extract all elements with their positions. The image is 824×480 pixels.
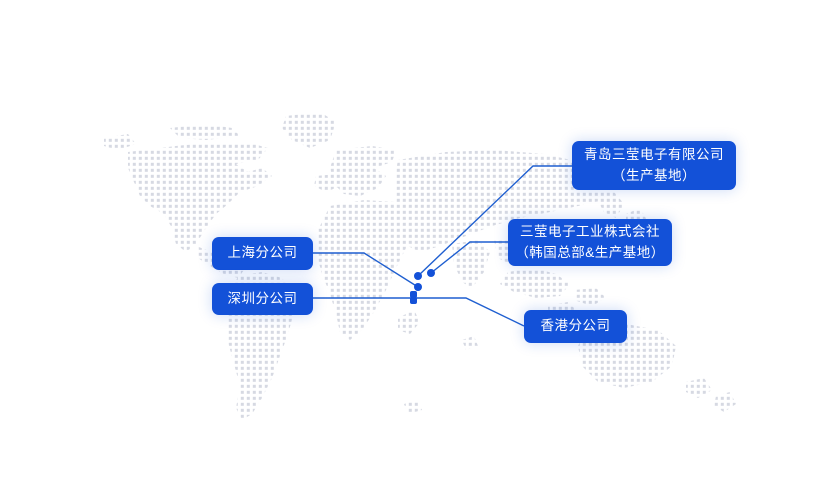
marker-korea-icon — [427, 269, 435, 277]
marker-qingdao-icon — [414, 272, 422, 280]
location-map-diagram: 青岛三莹电子有限公司 （生产基地） 三莹电子工业株式会社 （韩国总部&生产基地）… — [0, 0, 824, 480]
korea-hq-callout[interactable]: 三莹电子工业株式会社 （韩国总部&生产基地） — [508, 219, 672, 266]
connector-shanghai — [311, 253, 418, 287]
shenzhen-callout-label: 深圳分公司 — [228, 289, 298, 309]
connector-korea — [431, 242, 510, 273]
shenzhen-callout[interactable]: 深圳分公司 — [212, 283, 313, 315]
korea-hq-callout-line-1: 三莹电子工业株式会社 — [520, 222, 660, 242]
korea-hq-callout-line-2: （韩国总部&生产基地） — [515, 243, 665, 263]
connector-lines — [0, 0, 824, 480]
marker-shanghai-icon — [414, 283, 422, 291]
qingdao-callout-line-2: （生产基地） — [612, 166, 696, 186]
hongkong-callout-label: 香港分公司 — [541, 316, 611, 336]
shanghai-callout[interactable]: 上海分公司 — [212, 237, 313, 270]
qingdao-callout[interactable]: 青岛三莹电子有限公司 （生产基地） — [572, 141, 736, 190]
connector-hongkong — [414, 298, 524, 326]
marker-hongkong-icon — [410, 297, 417, 304]
shanghai-callout-label: 上海分公司 — [228, 243, 298, 263]
hongkong-callout[interactable]: 香港分公司 — [524, 310, 627, 343]
qingdao-callout-line-1: 青岛三莹电子有限公司 — [584, 145, 724, 165]
